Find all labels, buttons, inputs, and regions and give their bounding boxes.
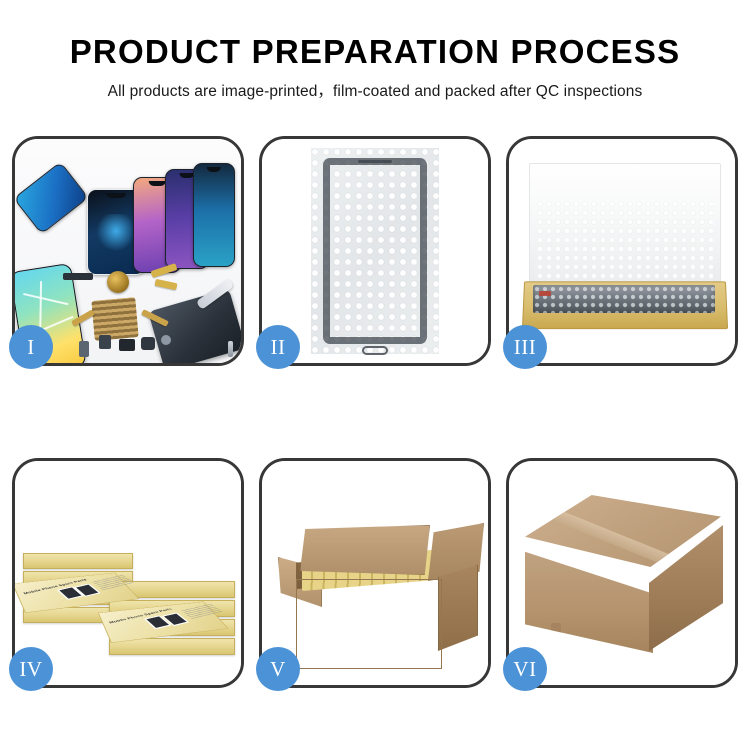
small-component [99,335,111,349]
step-badge-1: I [9,325,53,369]
connector-grid-part [91,297,138,341]
small-component [119,339,135,351]
page-subtitle: All products are image-printed，film-coat… [0,79,750,101]
earpiece-part [63,273,93,280]
foam-padding [535,199,713,283]
carton-flap-back [300,525,430,575]
wrapped-phone-screen [323,158,427,344]
process-steps-grid: I II III [12,136,738,688]
home-button-part [161,335,171,345]
step-panel-6: VI [506,458,738,688]
phone-teal [193,163,235,267]
page-title: PRODUCT PREPARATION PROCESS [0,34,750,70]
step-panel-2: II [259,136,491,366]
step-2-image [262,139,488,363]
step-panel-4: Mobile Phone Spare Parts Mobile Phone Sp… [12,458,244,688]
step-6-image [509,461,735,685]
step-badge-6: VI [503,647,547,691]
step-1-image [15,139,241,363]
sim-tray-part [79,341,89,357]
wrapped-screen-in-box [533,285,715,313]
step-badge-3: III [503,325,547,369]
step-badge-2: II [256,325,300,369]
page-header: PRODUCT PREPARATION PROCESS All products… [0,0,750,101]
screwdriver-tool [228,341,233,357]
carton-side-panel [438,565,478,651]
camera-module-part [141,337,155,350]
step-panel-5: V [259,458,491,688]
step-panel-3: III [506,136,738,366]
step-4-image: Mobile Phone Spare Parts Mobile Phone Sp… [15,461,241,685]
packing-tape [549,507,693,574]
step-5-image [262,461,488,685]
step-badge-4: IV [9,647,53,691]
step-panel-1: I [12,136,244,366]
carton-front-panel [296,579,442,669]
speaker-coil-part [107,271,129,293]
step-3-image [509,139,735,363]
step-badge-5: V [256,647,300,691]
